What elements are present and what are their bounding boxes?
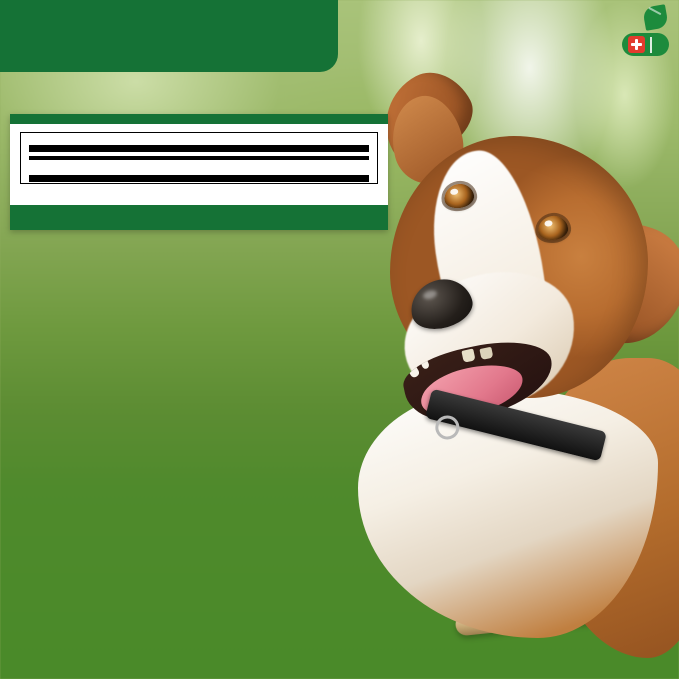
divider <box>650 37 652 53</box>
divider-medium <box>29 156 369 160</box>
brand-wordmark <box>505 6 669 29</box>
divider-thick <box>29 145 369 152</box>
amount-per-serving-header <box>29 153 369 155</box>
product-infographic <box>0 0 679 679</box>
medical-cross-icon <box>628 36 645 53</box>
dog-tooth <box>461 349 475 363</box>
divider-thick-bottom <box>29 175 369 182</box>
guaranteed-analysis-panel <box>10 114 388 230</box>
brand-logo <box>505 6 669 68</box>
ingredient-list <box>29 165 369 169</box>
dog-photo-subject <box>352 58 679 618</box>
leaf-icon <box>642 4 669 31</box>
background-photo <box>0 0 679 679</box>
dog-tooth <box>479 347 493 360</box>
other-ingredients-row <box>20 184 378 195</box>
vets-badge <box>622 33 669 56</box>
nutrition-facts-box <box>20 132 378 184</box>
only-natural-banner <box>0 0 338 72</box>
